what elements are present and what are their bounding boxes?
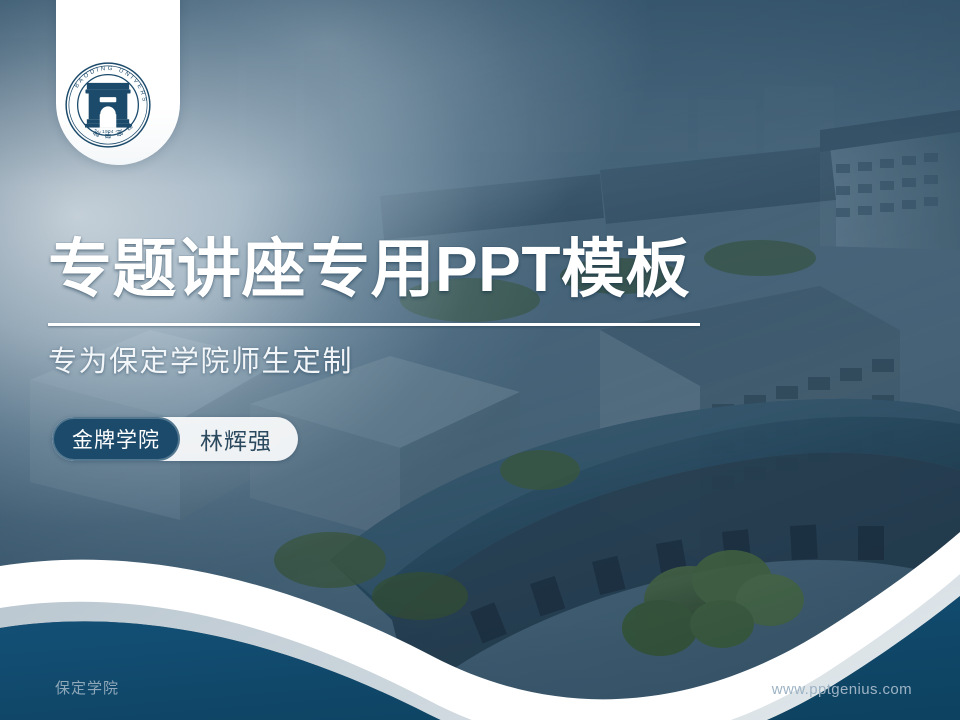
subtitle: 专为保定学院师生定制 — [48, 326, 748, 380]
presenter-tag-label: 金牌学院 — [52, 417, 180, 461]
presenter-badge[interactable]: 金牌学院 林辉强 — [52, 417, 298, 461]
footer-institution-label: 保定学院 — [55, 677, 119, 698]
presentation-slide: BAODING UNIVERSITY 保定学院 1904 专题讲座专用PPT模板… — [0, 0, 960, 720]
presenter-name: 林辉强 — [180, 422, 298, 456]
baoding-university-seal-icon: BAODING UNIVERSITY 保定学院 1904 — [62, 59, 154, 151]
title-block: 专题讲座专用PPT模板 专为保定学院师生定制 — [48, 236, 748, 380]
footer-website-label[interactable]: www.pptgenius.com — [772, 681, 912, 698]
main-title: 专题讲座专用PPT模板 — [48, 236, 748, 303]
svg-text:1904: 1904 — [102, 129, 114, 134]
